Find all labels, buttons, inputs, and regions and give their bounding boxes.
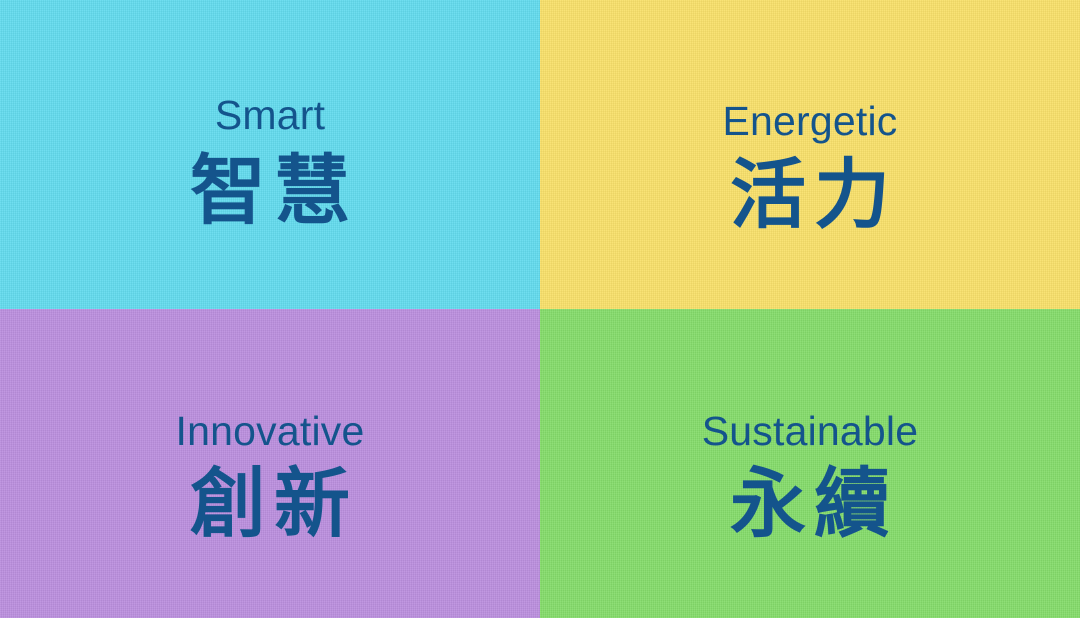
quadrant-smart-content: Smart 智慧	[0, 0, 540, 229]
quadrant-energetic-english-label: Energetic	[722, 101, 897, 142]
quadrant-sustainable-english-label: Sustainable	[702, 411, 918, 452]
quadrant-innovative-content: Innovative 創新	[0, 309, 540, 542]
quadrant-energetic: Energetic 活力	[540, 0, 1080, 309]
quadrant-innovative-english-label: Innovative	[176, 411, 365, 452]
quadrant-smart-english-label: Smart	[215, 95, 325, 136]
quadrant-energetic-chinese-label: 活力	[722, 157, 898, 233]
quadrant-innovative-chinese-label: 創新	[182, 466, 358, 542]
quadrant-smart: Smart 智慧	[0, 0, 540, 309]
quadrant-energetic-content: Energetic 活力	[540, 0, 1080, 233]
quadrant-sustainable-chinese-label: 永續	[722, 466, 898, 542]
quadrant-innovative: Innovative 創新	[0, 309, 540, 618]
quadrant-sustainable-content: Sustainable 永續	[540, 309, 1080, 542]
quadrant-sustainable: Sustainable 永續	[540, 309, 1080, 618]
quadrant-smart-chinese-label: 智慧	[182, 153, 358, 229]
brand-values-poster: Smart 智慧 Energetic 活力 Innovative 創新 Sust…	[0, 0, 1080, 618]
